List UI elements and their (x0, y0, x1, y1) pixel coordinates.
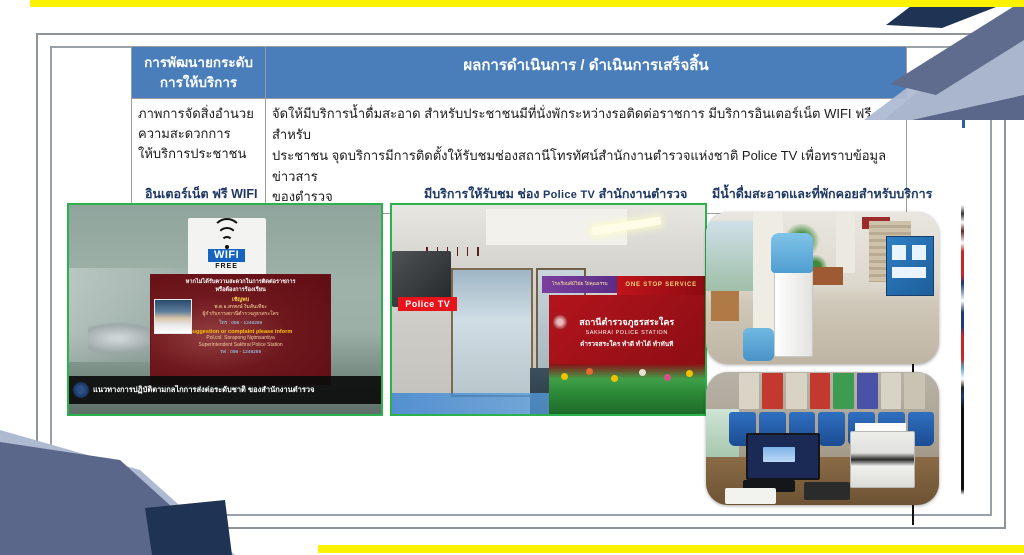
category-line2: ความสะดวกการ (138, 124, 259, 144)
wifi-label: WIFI (208, 249, 245, 263)
mouse-pad (804, 482, 851, 499)
category-line1: ภาพการจัดสิ่งอำนวย (138, 104, 259, 124)
photo3-pillar-right (836, 212, 855, 273)
police-tv-label: Police TV (398, 297, 457, 311)
caption-photo2-post: สำนักงานตำรวจ (595, 187, 687, 201)
police-seal-icon (552, 314, 568, 330)
top-yellow-bar (30, 0, 1024, 7)
bottom-yellow-bar (318, 545, 1024, 553)
caption-photo2-pre: มีบริการให้รับชม ช่อง (424, 187, 543, 201)
poster-eng-title: Superintendent Sakhrai Police Station (198, 342, 282, 350)
free-label: FREE (215, 263, 238, 270)
police-emblem-icon (73, 382, 89, 398)
photo3-outdoor-view (706, 221, 753, 291)
table-header-col1: การพัฒนายกระดับ การให้บริการ (132, 47, 266, 99)
bottom-left-corner-decoration (0, 430, 340, 555)
table-header-col2: ผลการดำเนินการ / ดำเนินการเสร็จสิ้น (266, 47, 907, 99)
poster-phone-thai: โทร : 098 - 1248269 (219, 319, 262, 327)
category-line3: ให้บริการประชาชน (138, 144, 259, 164)
office-printer (850, 431, 915, 489)
photo-service-desk-and-chairs (706, 372, 939, 505)
poster-eng-name: Pol.col. Sorapong Ngimsantiya (206, 335, 274, 343)
poster-line3: เชิญพบ (232, 296, 249, 304)
result-line1: จัดให้มีบริการน้ำดื่มสะอาด สำหรับประชาชน… (272, 104, 900, 146)
purple-sign: โรงเรียนดีมีวินัย ใฝ่คุณธรรม (542, 276, 617, 293)
photo2-floor-mat (392, 393, 549, 414)
police-station-banner: สถานีตำรวจภูธรสระใคร SAKHRAI POLICE STAT… (549, 295, 706, 370)
banner-thai-name: สถานีตำรวจภูธรสระใคร (579, 315, 674, 329)
photo-wifi-free-poster: WIFI FREE หากไม่ได้รับความสะดวกในการติดต… (67, 203, 383, 416)
caption-photo2: มีบริการให้รับชม ช่อง Police TV สำนักงาน… (424, 184, 687, 204)
wifi-icon (212, 232, 242, 248)
banner-slogan: ตำรวจสระใคร ทำดี ทำได้ ทำทันที (580, 339, 673, 349)
top-right-corner-decoration (824, 0, 1024, 120)
photo3-wooden-bench (811, 267, 844, 285)
photo4-wall-posters (739, 373, 925, 409)
caption-photo2-police-tv: Police TV (543, 189, 595, 201)
photo-police-tv-station: โรงเรียนดีมีวินัย ใฝ่คุณธรรม ONE STOP SE… (390, 203, 707, 416)
complaint-poster: หากไม่ได้รับความสะดวกในการติดต่อราชการ ห… (150, 274, 331, 385)
poster-line1: หากไม่ได้รับความสะดวกในการติดต่อราชการ (186, 278, 296, 286)
water-dispenser (774, 270, 813, 357)
caption-photo3: มีน้ำดื่มสะอาดและที่พักคอยสำหรับบริการ (712, 184, 932, 204)
photo1-bottom-banner: แนวทางการปฏิบัติตามกลไกการส่งต่อระดับชาต… (69, 376, 381, 403)
photo1-bottom-banner-text: แนวทางการปฏิบัติตามกลไกการส่งต่อระดับชาต… (93, 384, 314, 396)
caption-photo1: อินเตอร์เน็ต ฟรี WIFI (145, 184, 258, 204)
photo3-wooden-chair (711, 291, 739, 321)
photo4-documents (725, 488, 776, 504)
table-header-col1-line2: การให้บริการ (136, 73, 261, 93)
photo2-flower-decoration (549, 364, 706, 414)
table-header-col1-line1: การพัฒนายกระดับ (136, 53, 261, 73)
result-line2: ประชาชน จุดบริการมีการติดตั้งให้รับชมช่อ… (272, 146, 900, 188)
photo2-doorway (451, 268, 532, 398)
table-header-row: การพัฒนายกระดับ การให้บริการ ผลการดำเนิน… (132, 47, 907, 99)
banner-english-name: SAKHRAI POLICE STATION (586, 330, 668, 336)
one-stop-service-sign: ONE STOP SERVICE (617, 276, 705, 295)
desktop-monitor (746, 433, 820, 480)
poster-line5: ผู้กำกับการสถานีตำรวจภูธรสระใคร (202, 311, 278, 319)
poster-line2: หรือต้องการร้องเรียน (215, 286, 265, 294)
water-bottle-on-dispenser (771, 233, 813, 273)
officer-portrait (154, 299, 192, 334)
spare-water-jug (743, 328, 773, 361)
photo3-notice-board (886, 236, 935, 296)
poster-phone-eng: Tel : 098 - 1248269 (220, 350, 261, 355)
photo-water-dispenser-area (706, 212, 939, 364)
